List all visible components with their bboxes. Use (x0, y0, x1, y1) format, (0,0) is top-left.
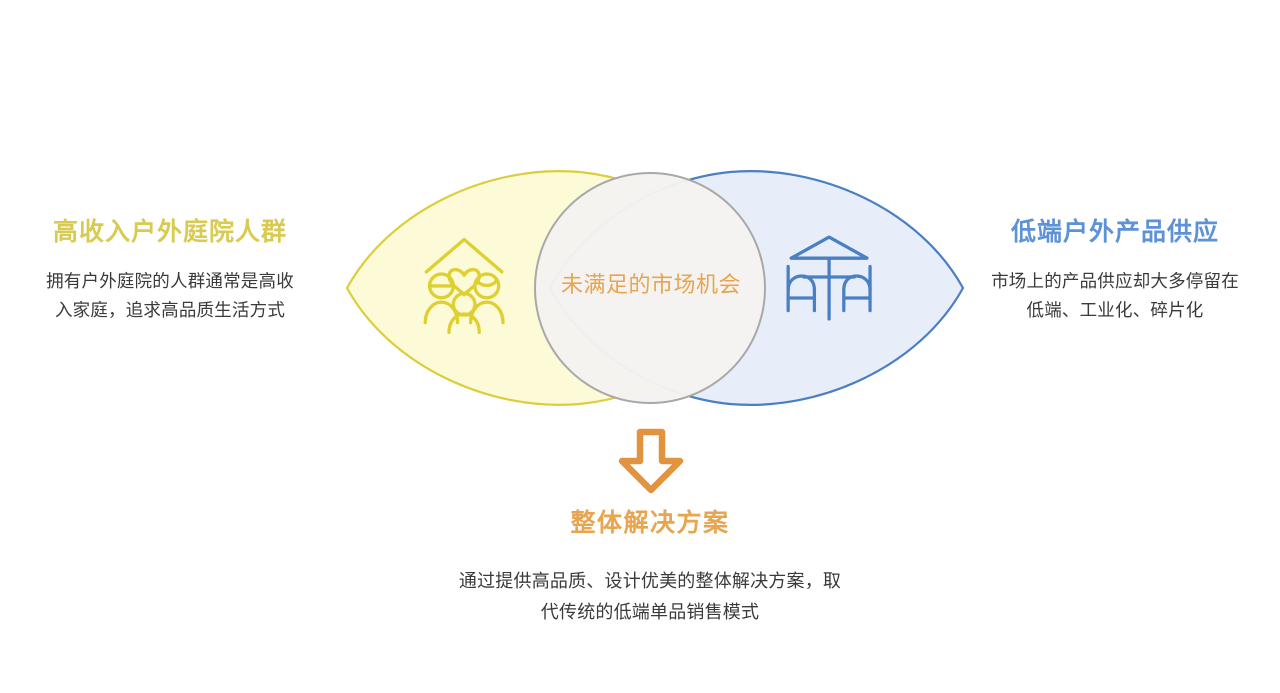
diagram-canvas: 未满足的市场机会 高收入户外庭院人群 拥有户外庭院的人群通常是高收入家庭，追求高… (0, 0, 1280, 693)
left-segment-title: 高收入户外庭院人群 (10, 215, 330, 249)
right-segment-title: 低端户外产品供应 (955, 215, 1275, 249)
left-segment-description: 拥有户外庭院的人群通常是高收入家庭，追求高品质生活方式 (39, 267, 301, 325)
conclusion-title: 整体解决方案 (340, 505, 960, 541)
left-segment-block: 高收入户外庭院人群 拥有户外庭院的人群通常是高收入家庭，追求高品质生活方式 (10, 215, 330, 325)
conclusion-block: 整体解决方案 通过提供高品质、设计优美的整体解决方案，取代传统的低端单品销售模式 (340, 505, 960, 628)
down-arrow-icon (608, 428, 694, 496)
right-segment-description: 市场上的产品供应却大多停留在低端、工业化、碎片化 (984, 267, 1246, 325)
venn-center-circle (535, 173, 765, 403)
venn-diagram (330, 150, 980, 440)
conclusion-description: 通过提供高品质、设计优美的整体解决方案，取代传统的低端单品销售模式 (450, 566, 850, 628)
right-segment-block: 低端户外产品供应 市场上的产品供应却大多停留在低端、工业化、碎片化 (955, 215, 1275, 325)
